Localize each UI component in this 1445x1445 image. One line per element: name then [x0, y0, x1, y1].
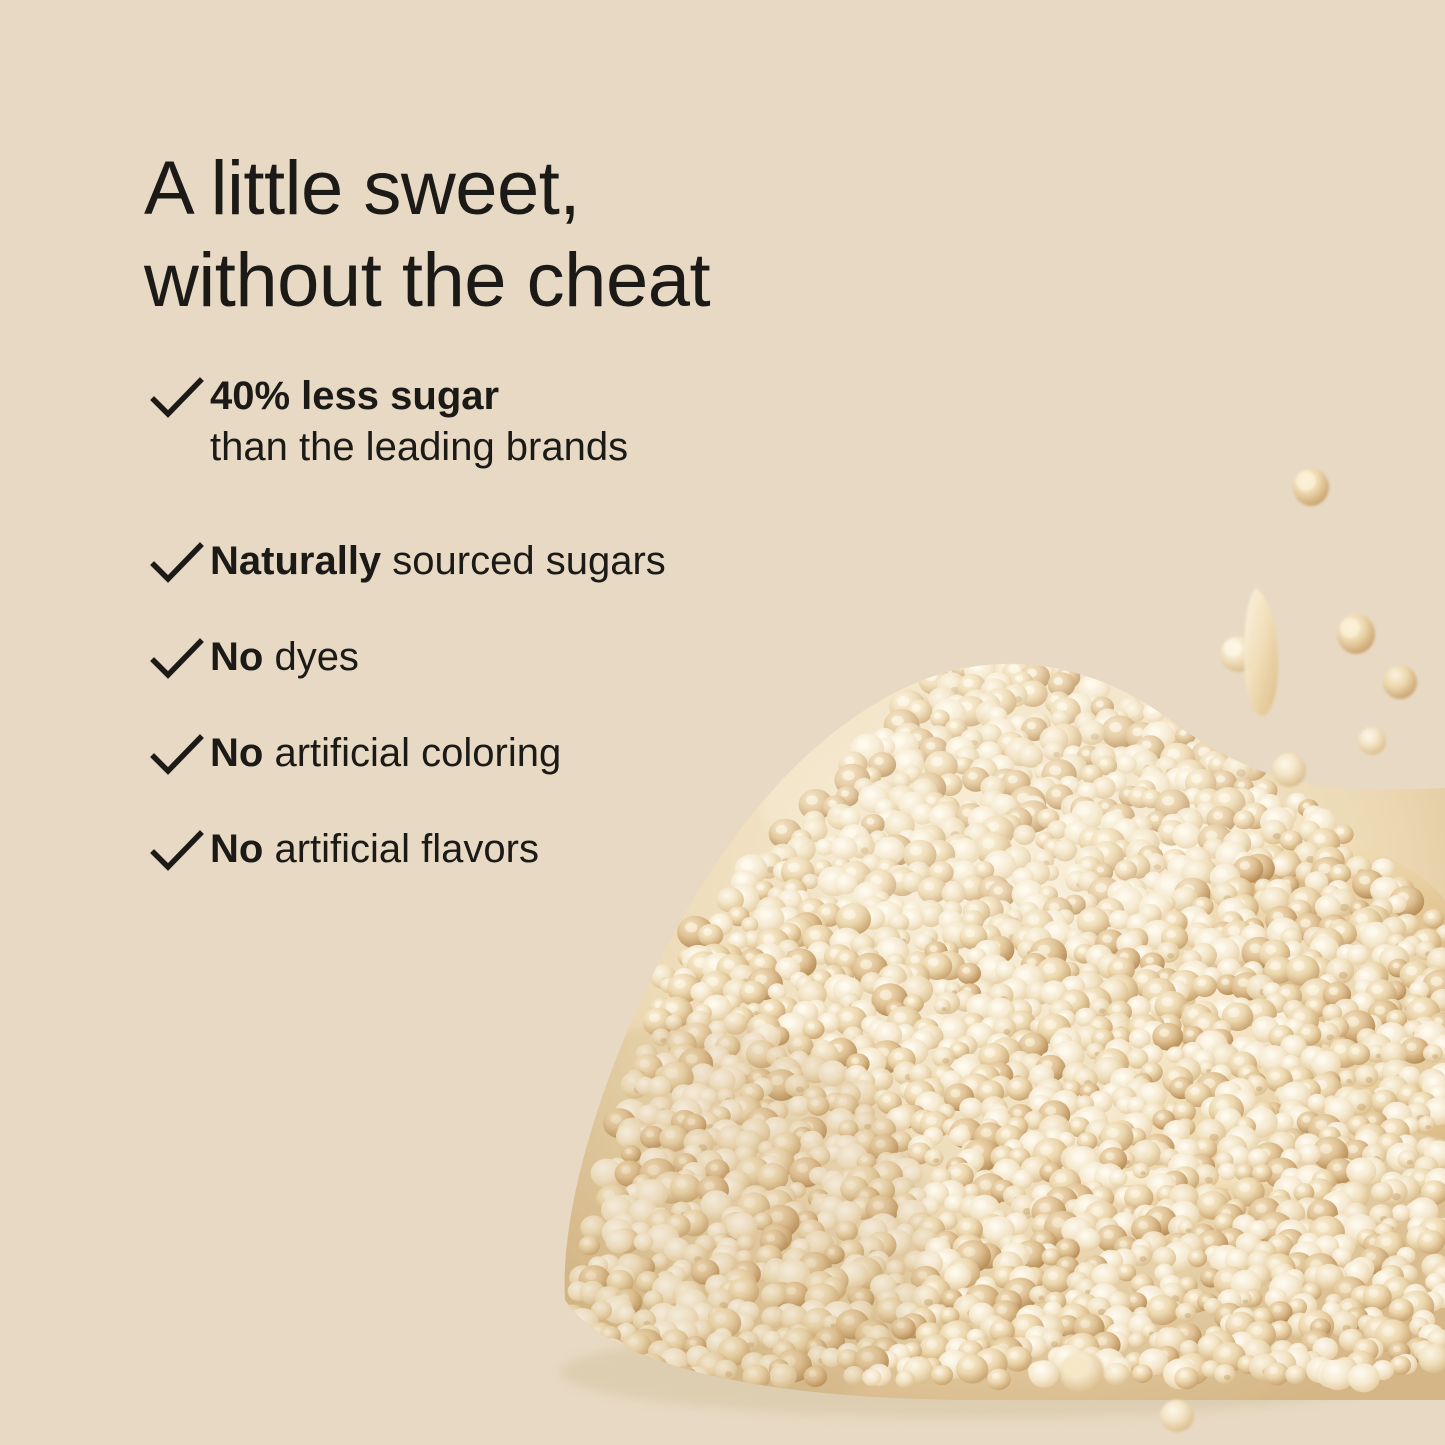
benefit-normal: sourced sugars [381, 539, 666, 583]
benefits-list: 40% less sugar than the leading brands N… [148, 372, 908, 881]
list-item: No dyes [148, 633, 908, 689]
checkmark-icon [148, 376, 210, 422]
list-item-text: No dyes [210, 633, 908, 682]
list-item-text: Naturally sourced sugars [210, 537, 908, 586]
flying-puffs [1060, 468, 1417, 1432]
list-item: 40% less sugar than the leading brands [148, 372, 908, 473]
benefit-normal: artificial coloring [263, 731, 561, 775]
list-item: No artificial coloring [148, 729, 908, 785]
list-item-text: No artificial flavors [210, 825, 908, 874]
page-title: A little sweet, without the cheat [144, 143, 1044, 327]
benefit-strong: No [210, 827, 263, 871]
benefit-strong: 40% less sugar [210, 374, 499, 418]
benefit-normal: artificial flavors [263, 827, 539, 871]
benefit-normal: dyes [263, 635, 359, 679]
list-item: Naturally sourced sugars [148, 537, 908, 593]
list-item-text: No artificial coloring [210, 729, 908, 778]
list-item: No artificial flavors [148, 825, 908, 881]
benefit-strong: Naturally [210, 539, 381, 583]
checkmark-icon [148, 637, 210, 683]
checkmark-icon [148, 829, 210, 875]
benefit-subtext: than the leading brands [210, 421, 908, 473]
benefit-strong: No [210, 731, 263, 775]
checkmark-icon [148, 733, 210, 779]
product-benefits-graphic: A little sweet, without the cheat 40% le… [0, 0, 1445, 1445]
benefit-strong: No [210, 635, 263, 679]
checkmark-icon [148, 541, 210, 587]
list-item-text: 40% less sugar than the leading brands [210, 372, 908, 473]
